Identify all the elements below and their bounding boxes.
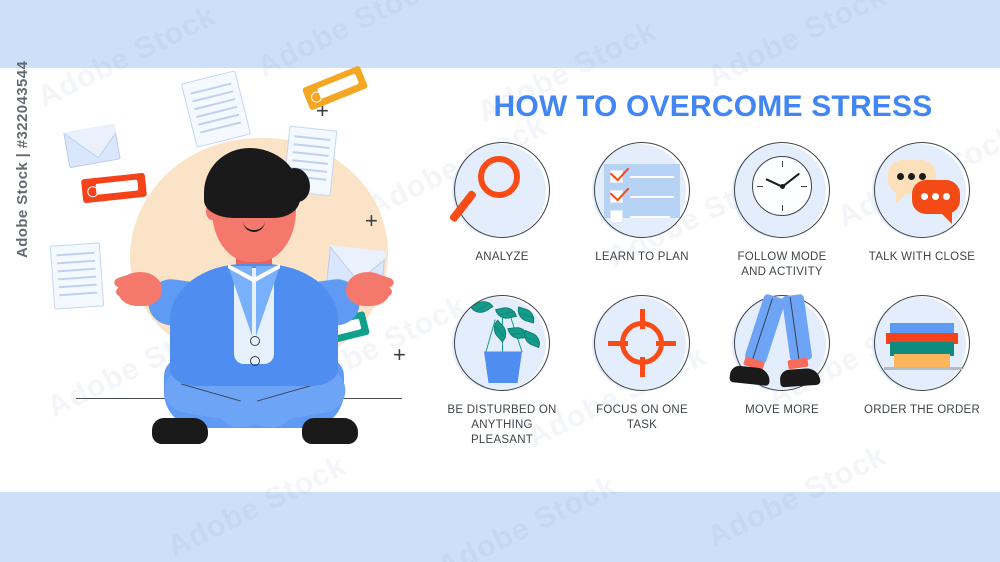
shoe-left [152, 418, 208, 444]
target-icon [592, 293, 692, 393]
tip-focus-on-one-task[interactable]: FOCUS ON ONE TASK [580, 293, 704, 447]
person-figure [124, 140, 384, 450]
tips-row-2: BE DISTURBED ON ANYTHING PLEASANT F [440, 293, 986, 447]
paper-sheet-icon [50, 242, 104, 309]
tip-label: ANALYZE [475, 250, 528, 265]
infographic-canvas: Adobe Stock Adobe Stock Adobe Stock Adob… [0, 0, 1000, 562]
tip-label: FOCUS ON ONE TASK [580, 403, 704, 432]
tip-move-more[interactable]: MOVE MORE [720, 293, 844, 447]
speech-bubbles-icon [872, 140, 972, 240]
plus-mark-icon: + [393, 344, 406, 366]
tip-follow-mode-and-activity[interactable]: FOLLOW MODE AND ACTIVITY [720, 140, 844, 279]
jacket-button [250, 356, 260, 366]
tip-label: MOVE MORE [745, 403, 819, 418]
page-title: HOW TO OVERCOME STRESS [450, 92, 976, 122]
tip-label: LEARN TO PLAN [595, 250, 689, 265]
paper-sheet-icon [181, 70, 251, 148]
top-color-band [0, 0, 1000, 68]
walking-legs-icon [732, 293, 832, 393]
clock-icon [732, 140, 832, 240]
tip-talk-with-close[interactable]: TALK WITH CLOSE [860, 140, 984, 279]
meditating-businessman-illustration: + + + + [38, 80, 438, 480]
hand-right-mudra [346, 272, 390, 306]
tip-label: ORDER THE ORDER [864, 403, 980, 418]
bottom-color-band [0, 492, 1000, 562]
magnifier-icon [452, 140, 552, 240]
jacket-button [250, 336, 260, 346]
tip-learn-to-plan[interactable]: LEARN TO PLAN [580, 140, 704, 279]
checklist-icon [592, 140, 692, 240]
binder-icon [302, 65, 368, 110]
tip-be-disturbed-on-anything-pleasant[interactable]: BE DISTURBED ON ANYTHING PLEASANT [440, 293, 564, 447]
tip-analyze[interactable]: ANALYZE [440, 140, 564, 279]
stock-id-watermark: Adobe Stock | #322043544 [14, 0, 31, 258]
shoe-right [302, 418, 358, 444]
tips-panel: HOW TO OVERCOME STRESS ANALYZE [440, 80, 986, 480]
tip-label: BE DISTURBED ON ANYTHING PLEASANT [440, 403, 564, 447]
tip-label: FOLLOW MODE AND ACTIVITY [737, 250, 826, 279]
tip-order-the-order[interactable]: ORDER THE ORDER [860, 293, 984, 447]
envelope-icon [63, 124, 120, 168]
potted-plant-icon [452, 293, 552, 393]
hair [204, 148, 300, 218]
hand-left-mudra [118, 272, 162, 306]
tips-grid: ANALYZE [440, 140, 986, 448]
tip-label: TALK WITH CLOSE [869, 250, 975, 265]
tips-row-1: ANALYZE [440, 140, 986, 279]
book-stack-icon [872, 293, 972, 393]
